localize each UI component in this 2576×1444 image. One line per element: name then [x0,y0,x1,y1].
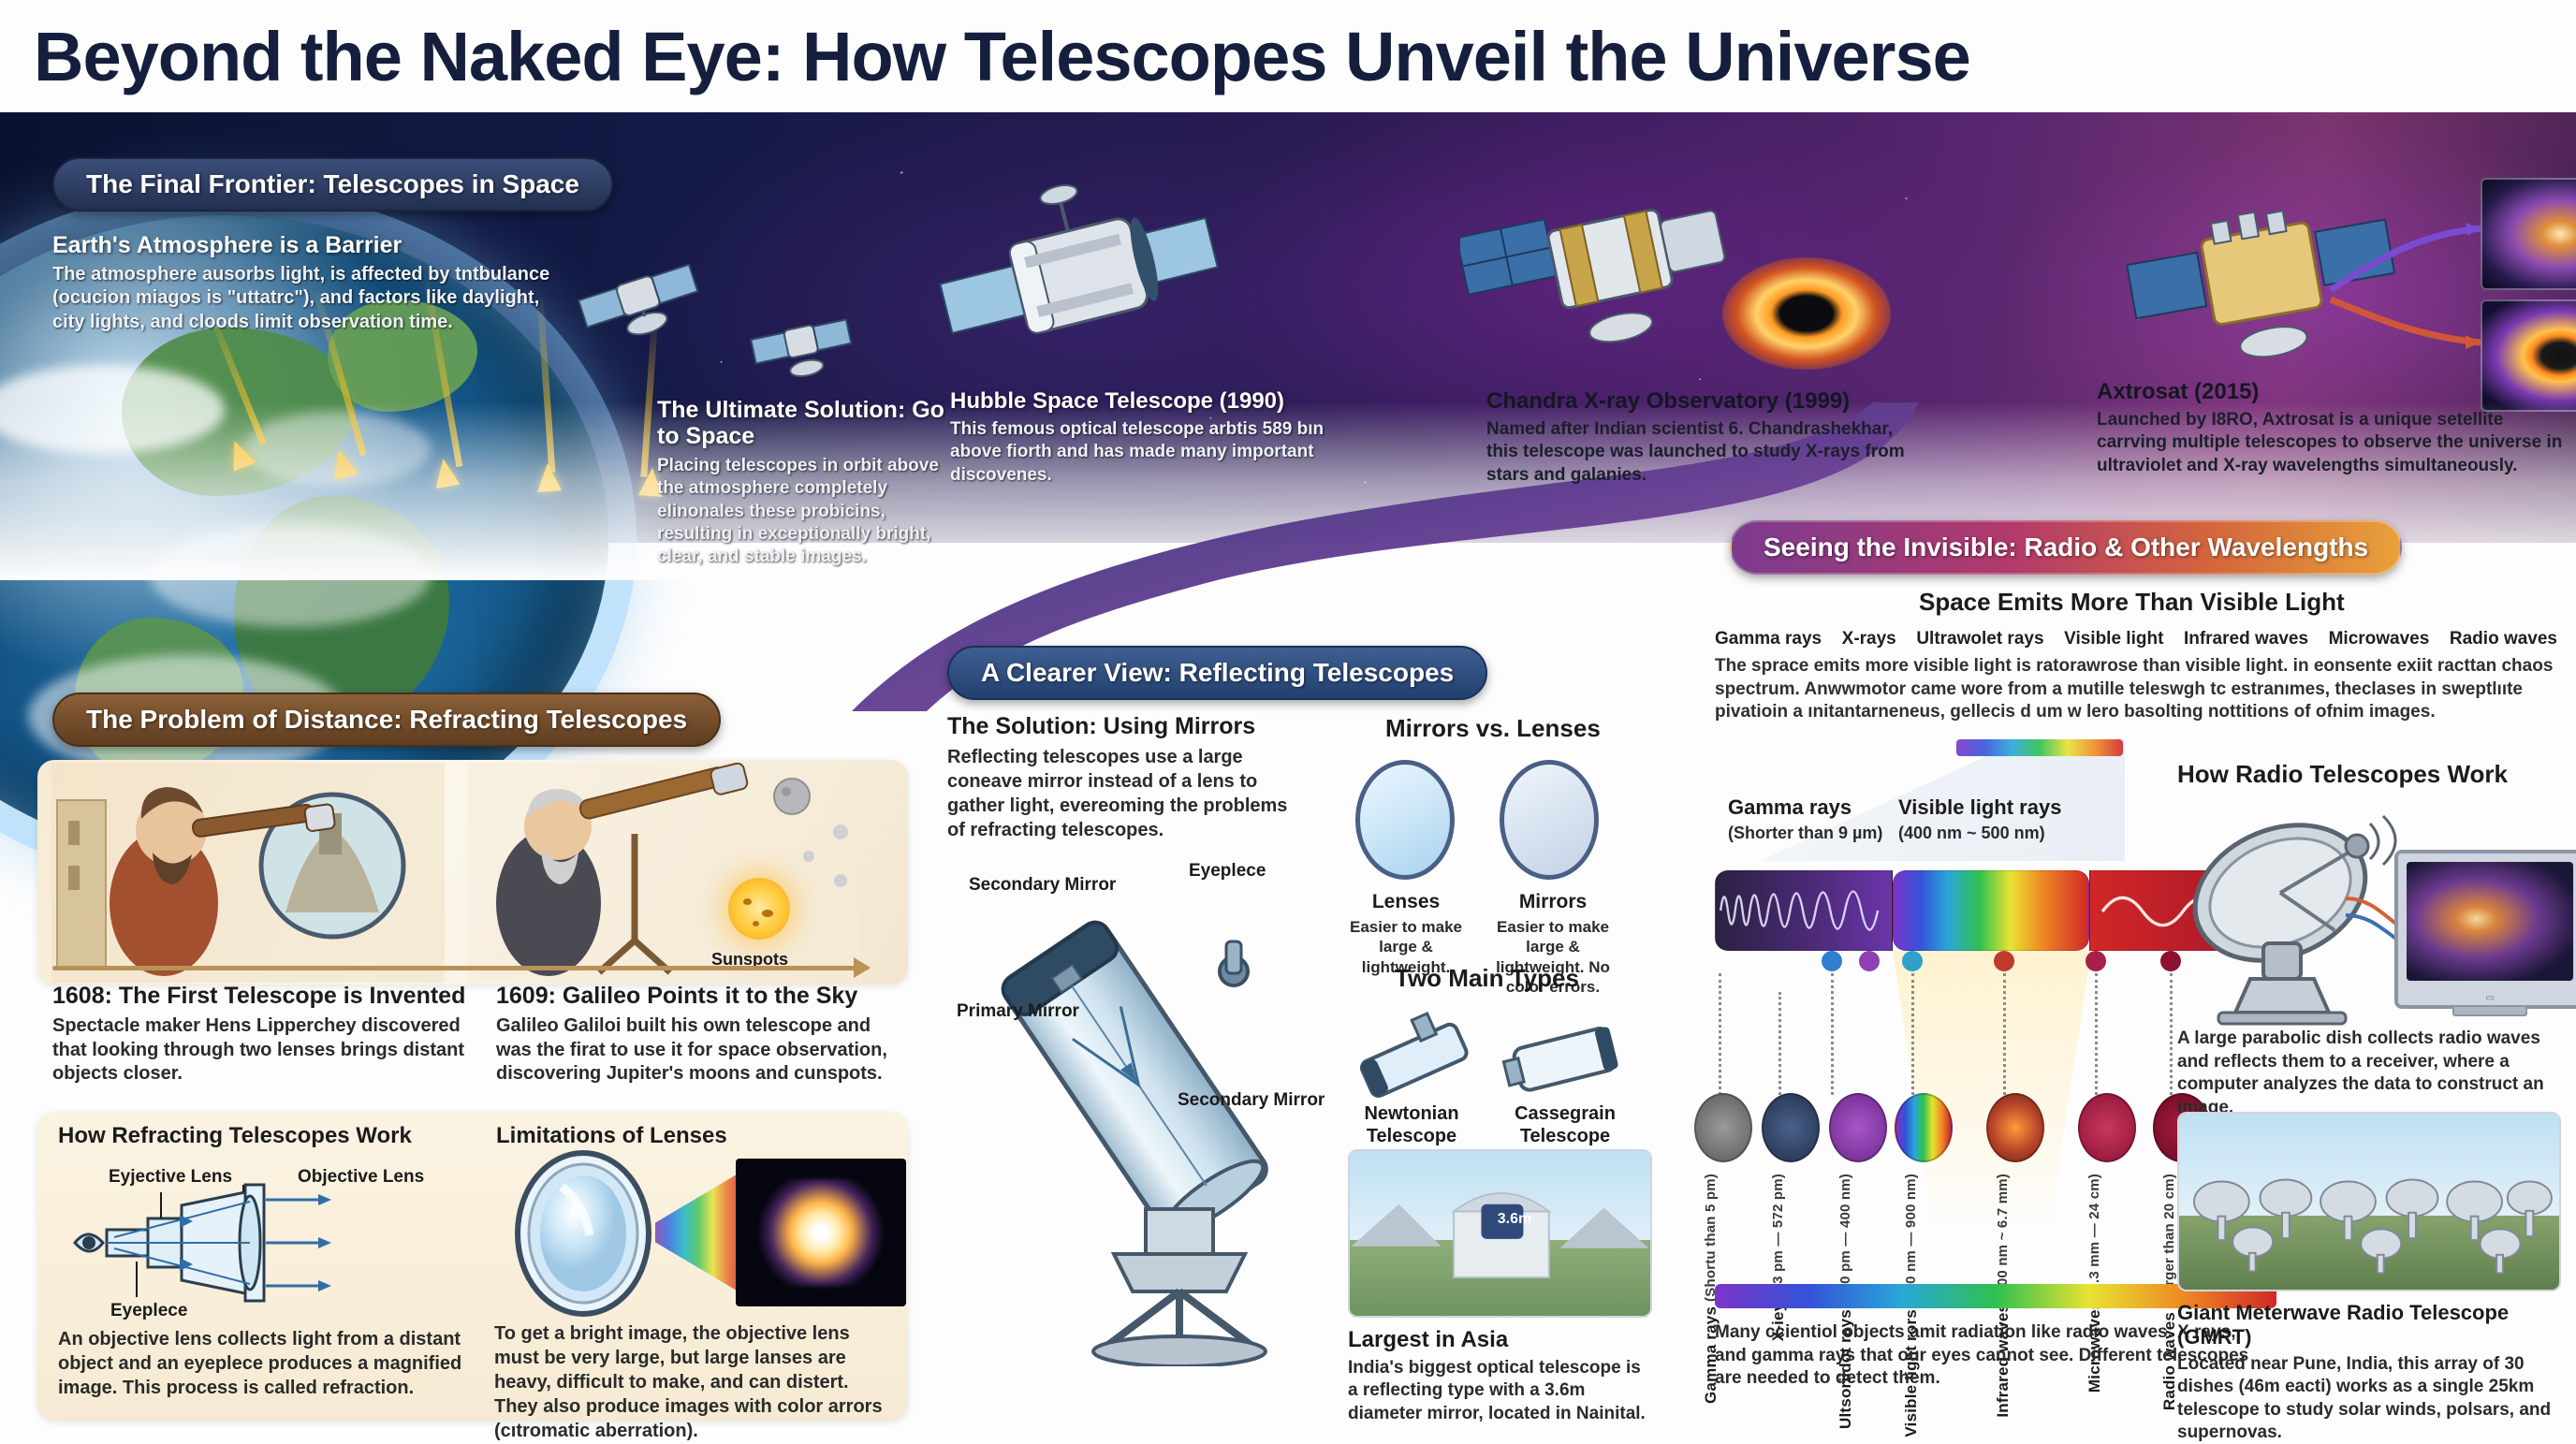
body: Reflecting telescopes use a large coneav… [947,745,1303,842]
band-label: Microwaves [2329,629,2430,649]
text-space-emits-body: The sprace emits more visible light is r… [1715,655,2567,724]
heading: How Radio Telescopes Work [2177,760,2508,789]
computer-monitor: ▭ [2394,850,2576,1009]
text-radio-heading: How Radio Telescopes Work [2177,760,2508,793]
band-label: Visible light [2064,629,2163,649]
heading: Hubble Space Telescope (1990) [950,388,1353,415]
pill-reflecting-telescopes: A Clearer View: Reflecting Telescopes [947,646,1487,700]
spectrum-circle-xray [1762,1093,1820,1162]
pill-label: The Final Frontier: Telescopes in Space [86,169,579,199]
text-space-emits-heading: Space Emits More Than Visible Light [1919,588,2345,620]
heading: 1609: Galileo Points it to the Sky [496,983,908,1010]
name: Mirrors [1485,891,1621,913]
spectrum-dot-2 [1902,951,1923,971]
spectrum-circle-visible [1895,1093,1953,1162]
label-text: Primary Mirror [957,1001,1079,1021]
chandra-observatory-icon [1460,164,1760,388]
pill-seeing-the-invisible: Seeing the Invisible: Radio & Other Wave… [1730,520,2402,575]
monitor-stand [2452,1005,2527,1016]
range: (Shortu than 5 pm) [1703,1174,1719,1302]
text-refraction-body: An objective lens collects light from a … [58,1327,479,1400]
body: The sprace emits more visible light is r… [1715,655,2557,724]
body: India's biggest optical telescope is a r… [1348,1357,1647,1425]
band-label: X-rays [1842,629,1896,649]
label-secondary-mirror-top: Secondary Mirror [969,875,1116,896]
spectrum-vlabel-1: X-ieys (3 pm — 572 pm) [1769,1174,1788,1341]
spectrum-visible-bar [1893,870,2089,951]
observatory-photo: 3.6m [1348,1149,1652,1318]
text-largest-in-asia: Largest in Asia India's biggest optical … [1348,1327,1657,1425]
type-cassegrain: Cassegrain Telescope [1490,1102,1640,1147]
galileo-illustration [468,763,861,983]
pill-refracting-telescopes: The Problem of Distance: Refracting Tele… [52,693,721,747]
body: An objective lens collects light from a … [58,1327,470,1400]
spectrum-dot-1 [1859,951,1880,971]
lippershey-illustration [51,763,445,983]
body: Placing telescopes in orbit above the at… [657,455,957,569]
heading: Largest in Asia [1348,1327,1657,1353]
label-eyepiece: Eyeplece [110,1301,187,1321]
label-secondary-mirror-bottom: Secondary Mirror [1178,1090,1325,1111]
heading: Earth's Atmosphere is a Barrier [52,232,614,259]
pill-label: A Clearer View: Reflecting Telescopes [981,658,1454,688]
range: (6.3 mm — 24 cm) [2086,1174,2102,1296]
heading: Axtrosat (2015) [2097,379,2576,405]
heading: Chandra X-ray Observatory (1999) [1486,388,1936,415]
hubble-telescope-icon [927,164,1236,398]
sun-illustration [728,878,790,940]
label-visible-rays-top: Visible light rays (400 nm ~ 500 nm) [1898,795,2061,843]
label-text: Secondary Mirror [1178,1090,1325,1110]
body: Launched by I8RO, Axtrosat is a unique s… [2097,409,2574,477]
spectrum-dot-0 [1822,951,1842,971]
body: To get a bright image, the objective len… [494,1321,897,1443]
name: Lenses [1340,891,1471,913]
newtonian-telescope-icon [1346,1009,1486,1112]
cassegrain-telescope-icon [1498,1009,1638,1112]
text-ultimate-solution: The Ultimate Solution: Go to Space Placi… [657,397,966,569]
heading: Giant Meterwave Radio Telescope (GMRT) [2177,1301,2570,1349]
body: Located near Pune, India, this array of … [2177,1353,2561,1444]
heading: Two Main Types [1395,964,1579,993]
large-lens-illustration [494,1149,681,1318]
body: Named after Indian scientist 6. Chandras… [1486,418,1926,487]
pill-label: Seeing the Invisible: Radio & Other Wave… [1764,532,2368,562]
text-milestone-1609: 1609: Galileo Points it to the Sky Galil… [496,983,908,1087]
label-eyepiece-reflector: Eyeplece [1189,861,1266,882]
gmrt-photo [2177,1112,2561,1291]
body: The atmosphere ausorbs light, is affecte… [52,263,577,334]
heading: The Ultimate Solution: Go to Space [657,397,966,449]
body: Spectacle maker Hens Lipperchey discover… [52,1014,474,1087]
infographic-root: Beyond the Naked Eye: How Telescopes Unv… [0,0,2576,1437]
spectrum-circle-infrared [1986,1093,2044,1162]
dome-label: 3.6m [1490,1207,1539,1232]
text-gmrt: Giant Meterwave Radio Telescope (GMRT) L… [2177,1301,2570,1444]
star-image-aberration [736,1159,906,1306]
label-primary-mirror: Primary Mirror [957,1001,1079,1022]
heading: Limitations of Lenses [496,1123,727,1149]
name: Newtonian Telescope [1337,1102,1486,1147]
heading: Gamma rays [1728,795,1882,820]
text-limitations-body: To get a bright image, the objective len… [494,1321,906,1443]
heading: Mirrors vs. Lenses [1385,714,1601,743]
lens-oval-icon [1355,760,1455,880]
mirror-oval-icon [1500,760,1599,880]
prism-rainbow-top [1956,739,2123,756]
text-hubble: Hubble Space Telescope (1990) This femou… [950,388,1353,487]
heading: The Solution: Using Mirrors [947,713,1312,740]
text-mirrors-vs-lenses: Mirrors vs. Lenses [1385,714,1601,747]
spectrum-circle-microwave [2078,1093,2136,1162]
text-how-refracting-works: How Refracting Telescopes Work [58,1123,412,1153]
name: Cassegrain Telescope [1490,1102,1640,1147]
body: This femous optical telescope arbtis 589… [950,418,1343,487]
label-text: Secondary Mirror [969,875,1116,895]
text-chandra: Chandra X-ray Observatory (1999) Named a… [1486,388,1936,487]
spectrum-dot-4 [2086,951,2106,971]
range: (Shorter than 9 µm) [1728,824,1882,843]
heading: 1608: The First Telescope is Invented [52,983,492,1010]
text-milestone-1608: 1608: The First Telescope is Invented Sp… [52,983,492,1087]
text-solution-mirrors: The Solution: Using Mirrors Reflecting t… [947,713,1312,842]
satellite-small-icon [739,281,880,402]
pill-label: The Problem of Distance: Refracting Tele… [86,705,687,735]
text-two-main-types: Two Main Types [1395,964,1579,997]
black-hole-illustration [1722,257,1891,370]
label-eyejective-lens: Eyjective Lens [109,1167,232,1188]
band-label: Radio waves [2450,629,2557,649]
spectrum-circle-gamma [1694,1093,1752,1162]
body: A large parabolic dish collects radio wa… [2177,1028,2561,1120]
type-newtonian: Newtonian Telescope [1337,1102,1486,1147]
label-gamma-rays-top: Gamma rays (Shorter than 9 µm) [1728,795,1882,843]
heading: Visible light rays [1898,795,2061,820]
band-label: Infrared waves [2184,629,2308,649]
text-astrosat: Axtrosat (2015) Launched by I8RO, Axtros… [2097,379,2576,477]
band-label: Gamma rays [1715,629,1822,649]
spectrum-gamma-bar [1715,870,1893,951]
range: (3 pm — 572 pm) [1770,1174,1786,1289]
spectrum-dot-3 [1994,951,2014,971]
heading: Space Emits More Than Visible Light [1919,588,2345,617]
range: (800 nm ~ 6.7 mm) [1995,1174,2011,1299]
timeline-arrow [52,966,869,970]
text-radio-body: A large parabolic dish collects radio wa… [2177,1028,2570,1120]
pill-telescopes-in-space: The Final Frontier: Telescopes in Space [52,157,613,211]
range: (400 nm ~ 500 nm) [1898,824,2061,843]
heading: How Refracting Telescopes Work [58,1123,412,1149]
body: Galileo Galiloi built his own telescope … [496,1014,889,1087]
band-label: Ultrawolet rays [1916,629,2043,649]
galaxy-thumbnail [2481,178,2576,290]
spectrum-band-labels: Gamma rays X-rays Ultrawolet rays Visibl… [1715,629,2557,649]
spectrum-circle-uv [1829,1093,1887,1162]
page-title: Beyond the Naked Eye: How Telescopes Unv… [34,17,1970,96]
text-earth-atmosphere: Earth's Atmosphere is a Barrier The atmo… [52,232,614,334]
label-objective-lens: Objective Lens [298,1167,424,1188]
